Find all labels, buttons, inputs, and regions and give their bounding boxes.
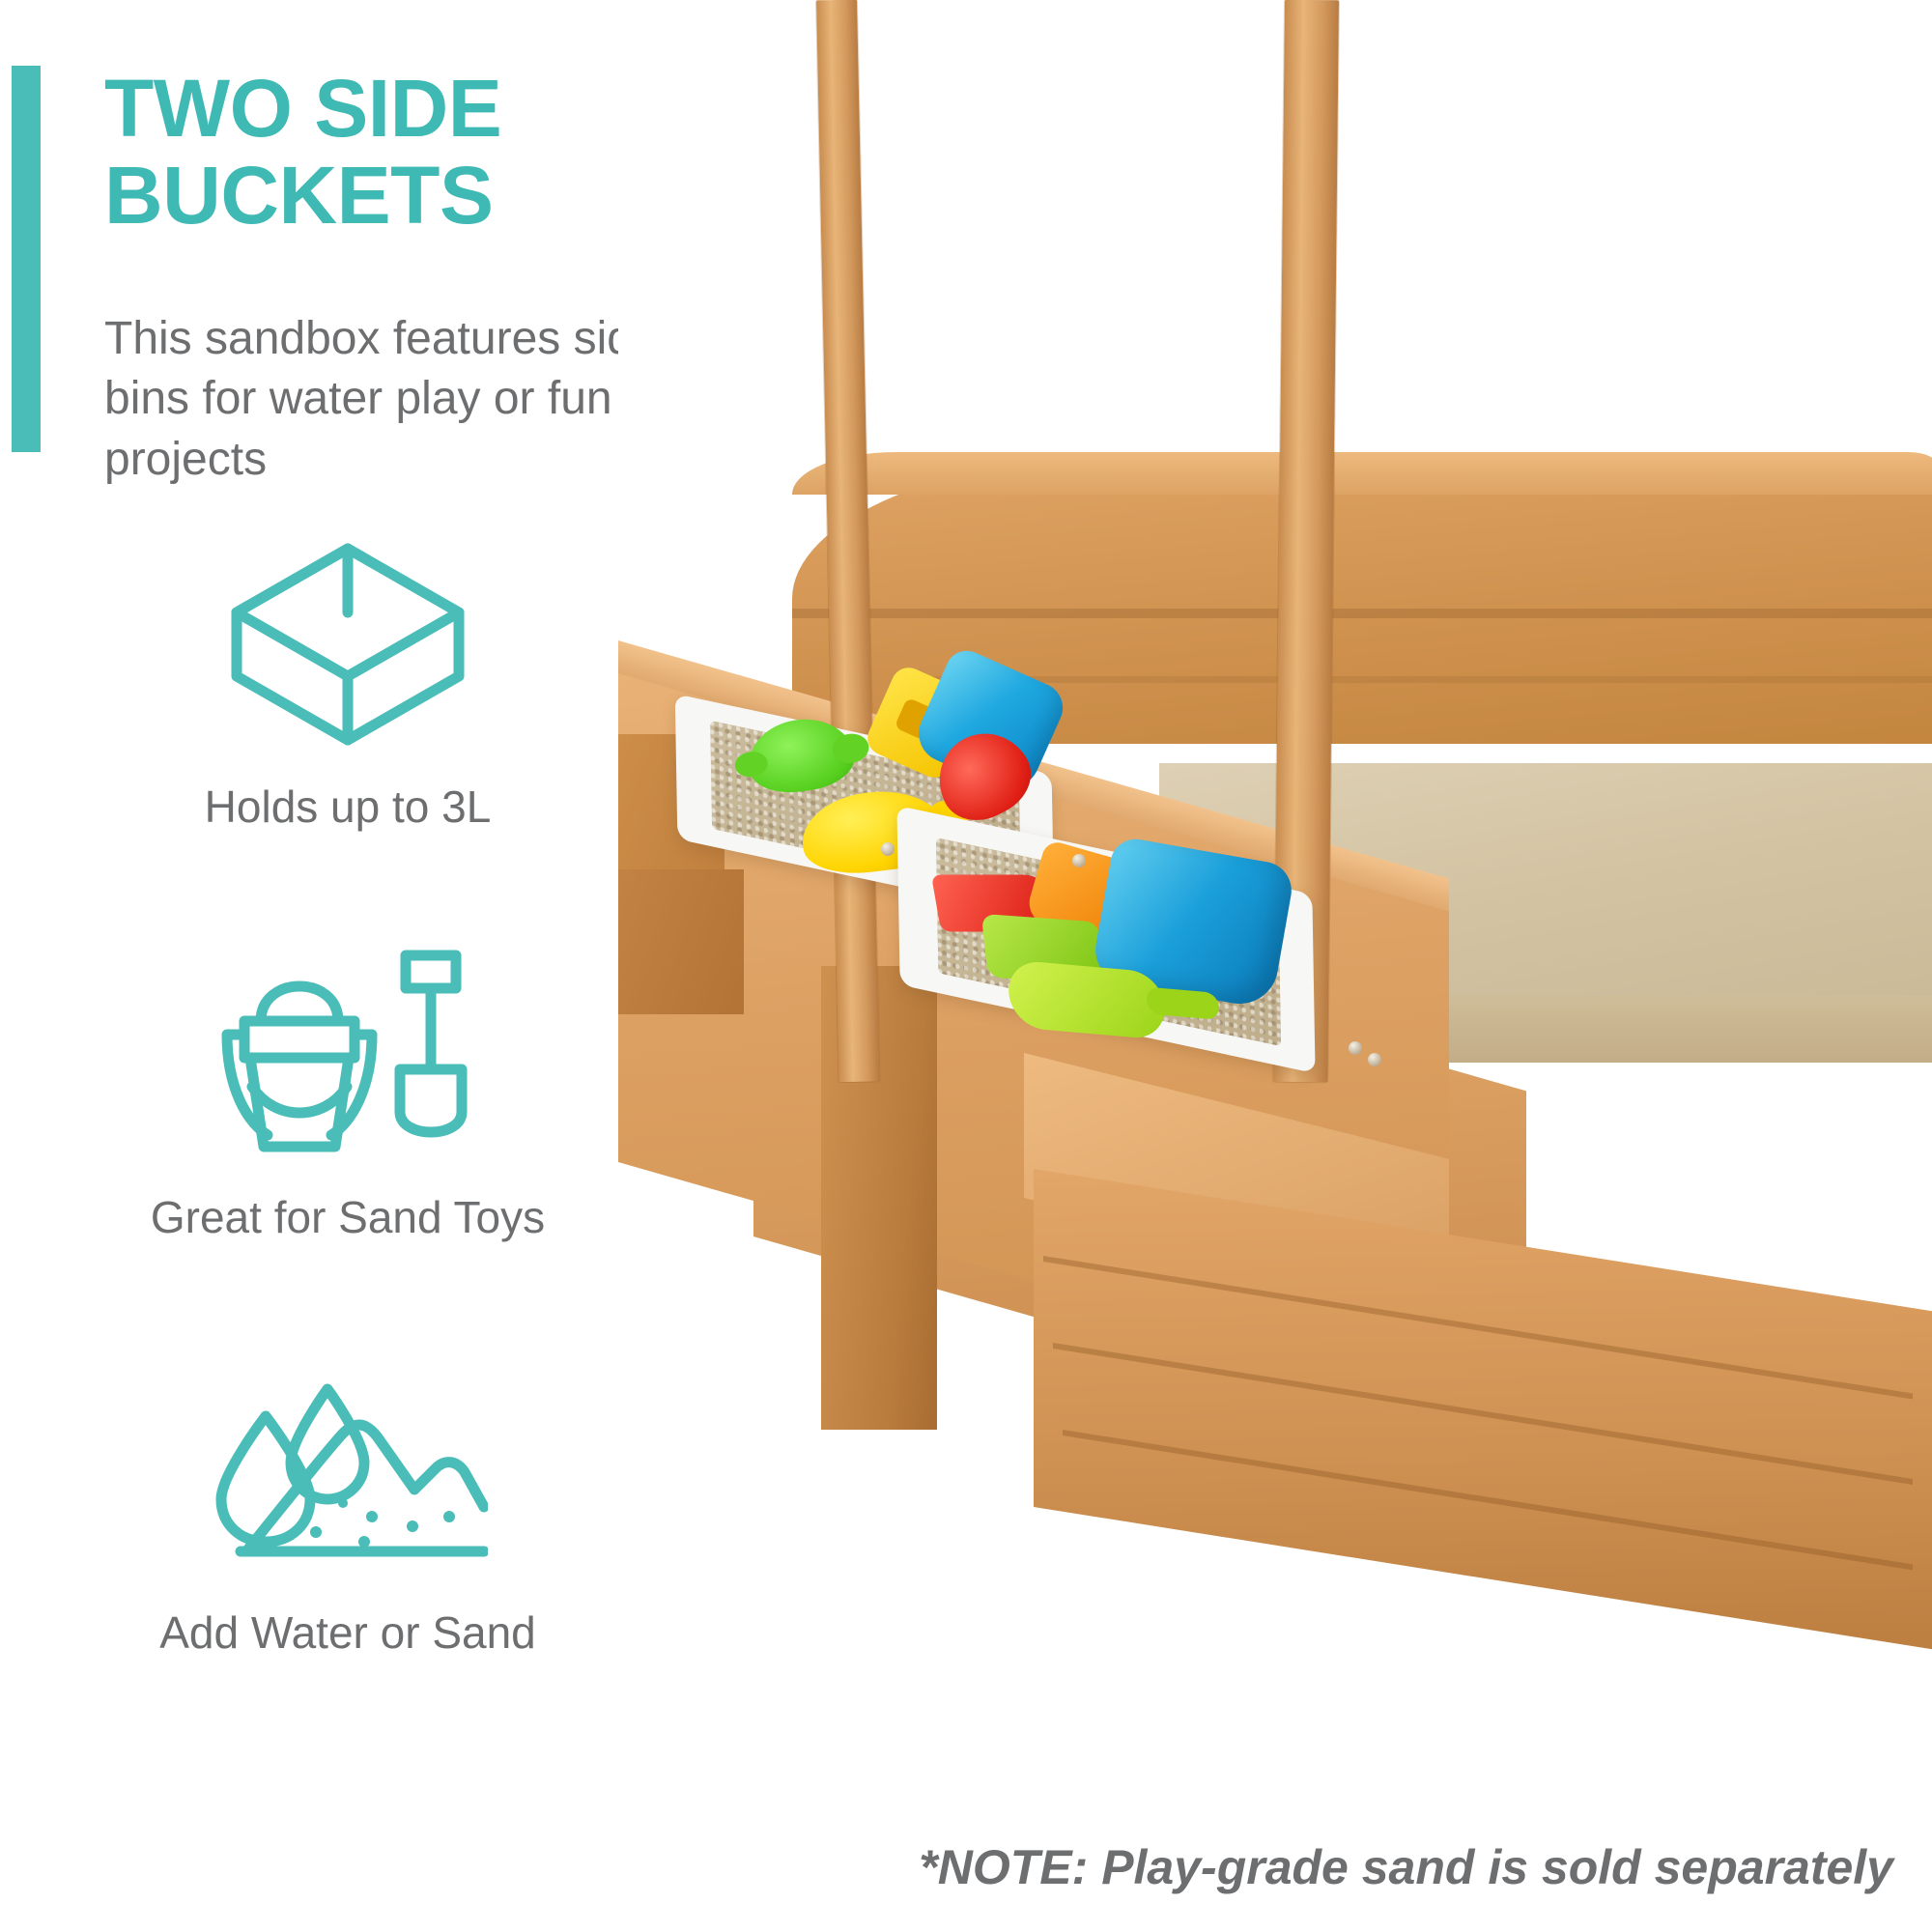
wood-grain-line [792,609,1932,618]
open-box-icon [58,517,638,768]
page-subtitle: This sandbox features side bins for wate… [104,309,703,490]
feature-item-capacity: Holds up to 3L [58,517,638,836]
teal-accent-bar [12,66,41,452]
info-panel: TWO SIDE BUCKETS This sandbox features s… [0,0,696,1932]
bucket-and-shovel-icon [58,927,638,1179]
photo-stage [618,0,1932,1806]
sandbox-back-rail-top-edge [792,452,1932,495]
wood-grain-line [908,676,1932,683]
screw [1349,1041,1362,1055]
feature-item-water-or-sand: Add Water or Sand [58,1343,638,1662]
screw [1368,1053,1381,1066]
footer-note: *NOTE: Play-grade sand is sold separatel… [919,1839,1893,1895]
product-photo [618,0,1932,1806]
screw [881,842,895,856]
water-drops-and-sand-icon [58,1343,638,1594]
feature-label: Great for Sand Toys [58,1190,638,1246]
feature-label: Add Water or Sand [58,1605,638,1662]
page-title: TWO SIDE BUCKETS [104,66,684,240]
screw [1072,854,1086,867]
sandbox-front-boards [1034,1169,1932,1649]
sandbox-left-support-lower [618,869,744,1014]
feature-label: Holds up to 3L [58,780,638,836]
feature-item-sand-toys: Great for Sand Toys [58,927,638,1246]
